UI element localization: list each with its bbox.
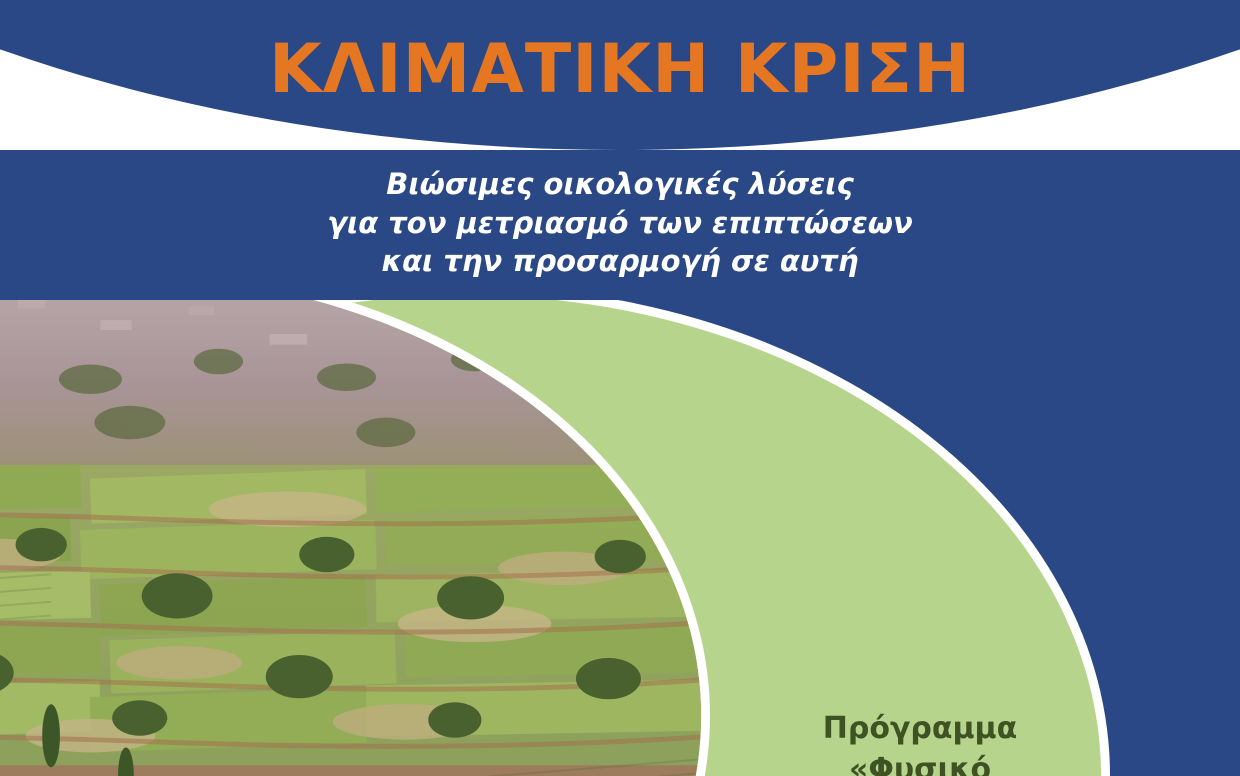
subtitle-line-1: Βιώσιμες οικολογικές λύσεις	[0, 165, 1240, 204]
subtitle-line-2: για τον μετριασμό των επιπτώσεων	[0, 204, 1240, 243]
program-line-1: Πρόγραμμα	[735, 708, 1105, 749]
page-title: ΚΛΙΜΑΤΙΚΗ ΚΡΙΣΗ	[0, 36, 1240, 104]
program-line-2: «Φυσικό	[735, 749, 1105, 776]
landscape-photo	[0, 300, 701, 776]
landscape-photo-disc	[0, 300, 710, 776]
program-credit-text: Πρόγραμμα «Φυσικό περιβάλλον & καινοτόμε…	[735, 708, 1105, 776]
lower-composition: Πρόγραμμα «Φυσικό περιβάλλον & καινοτόμε…	[0, 300, 1240, 776]
subtitle-line-3: και την προσαρμογή σε αυτή	[0, 242, 1240, 281]
subtitle: Βιώσιμες οικολογικές λύσεις για τον μετρ…	[0, 165, 1240, 281]
aerial-landscape-illustration	[0, 300, 701, 776]
climate-crisis-poster: ΚΛΙΜΑΤΙΚΗ ΚΡΙΣΗ Βιώσιμες οικολογικές λύσ…	[0, 0, 1240, 776]
